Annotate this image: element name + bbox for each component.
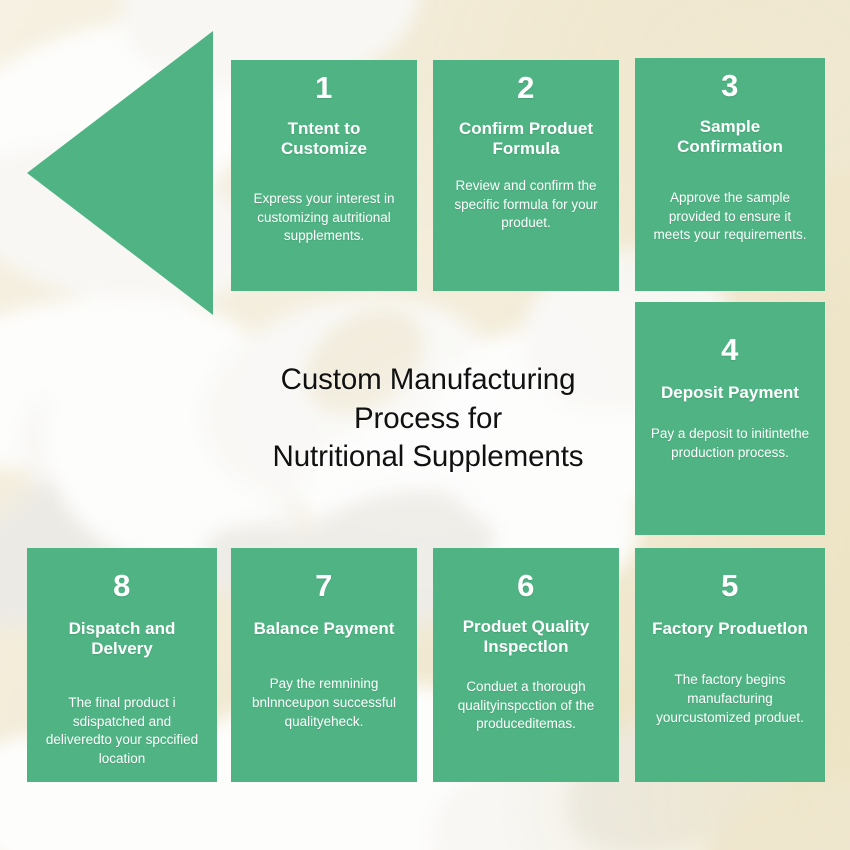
step-description: The factory begins manufacturing yourcus… [649, 671, 811, 727]
step-card-6[interactable]: 6 Produet Quality Inspectlon Conduet a t… [433, 548, 619, 782]
step-card-3[interactable]: 3 Sample Confirmation Approve the sample… [635, 58, 825, 291]
step-title: Deposit Payment [661, 383, 799, 404]
step-card-1[interactable]: 1 Tntent to Customize Express your inter… [231, 60, 417, 291]
step-description: The final product i sdispatched and deli… [41, 694, 203, 769]
step-title: Confirm Produet Formula [447, 119, 605, 160]
step-number: 7 [315, 570, 333, 603]
step-card-8[interactable]: 8 Dispatch and Delvery The final product… [27, 548, 217, 782]
step-number: 4 [721, 334, 739, 367]
step-description: Express your interest in customizing aut… [245, 190, 403, 246]
step-description: Pay the remnining bnlnnceupon successful… [245, 675, 403, 731]
left-pointing-arrow [27, 31, 213, 315]
page-title: Custom Manufacturing Process for Nutriti… [228, 352, 628, 486]
infographic-canvas: 1 Tntent to Customize Express your inter… [0, 0, 850, 850]
step-description: Review and confirm the specific formula … [447, 177, 605, 233]
step-title: Balance Payment [254, 619, 395, 640]
step-title: Dispatch and Delvery [41, 619, 203, 660]
page-title-line-3: Nutritional Supplements [273, 438, 584, 476]
step-number: 6 [517, 570, 535, 603]
step-title: Tntent to Customize [245, 119, 403, 160]
step-title: Sample Confirmation [649, 117, 811, 158]
step-card-2[interactable]: 2 Confirm Produet Formula Review and con… [433, 60, 619, 291]
step-number: 5 [721, 570, 739, 603]
step-description: Pay a deposit to initintethe production … [649, 425, 811, 462]
step-card-5[interactable]: 5 Factory Produetlon The factory begins … [635, 548, 825, 782]
step-number: 1 [315, 72, 333, 105]
step-description: Conduet a thorough qualityinspcction of … [447, 678, 605, 734]
step-number: 3 [721, 70, 739, 103]
step-description: Approve the sample provided to ensure it… [649, 189, 811, 245]
step-title: Produet Quality Inspectlon [447, 617, 605, 658]
step-card-4[interactable]: 4 Deposit Payment Pay a deposit to initi… [635, 302, 825, 535]
page-title-line-1: Custom Manufacturing [281, 361, 576, 399]
page-title-line-2: Process for [354, 400, 502, 438]
step-title: Factory Produetlon [652, 619, 808, 640]
step-card-7[interactable]: 7 Balance Payment Pay the remnining bnln… [231, 548, 417, 782]
step-number: 8 [113, 570, 131, 603]
step-number: 2 [517, 72, 535, 105]
